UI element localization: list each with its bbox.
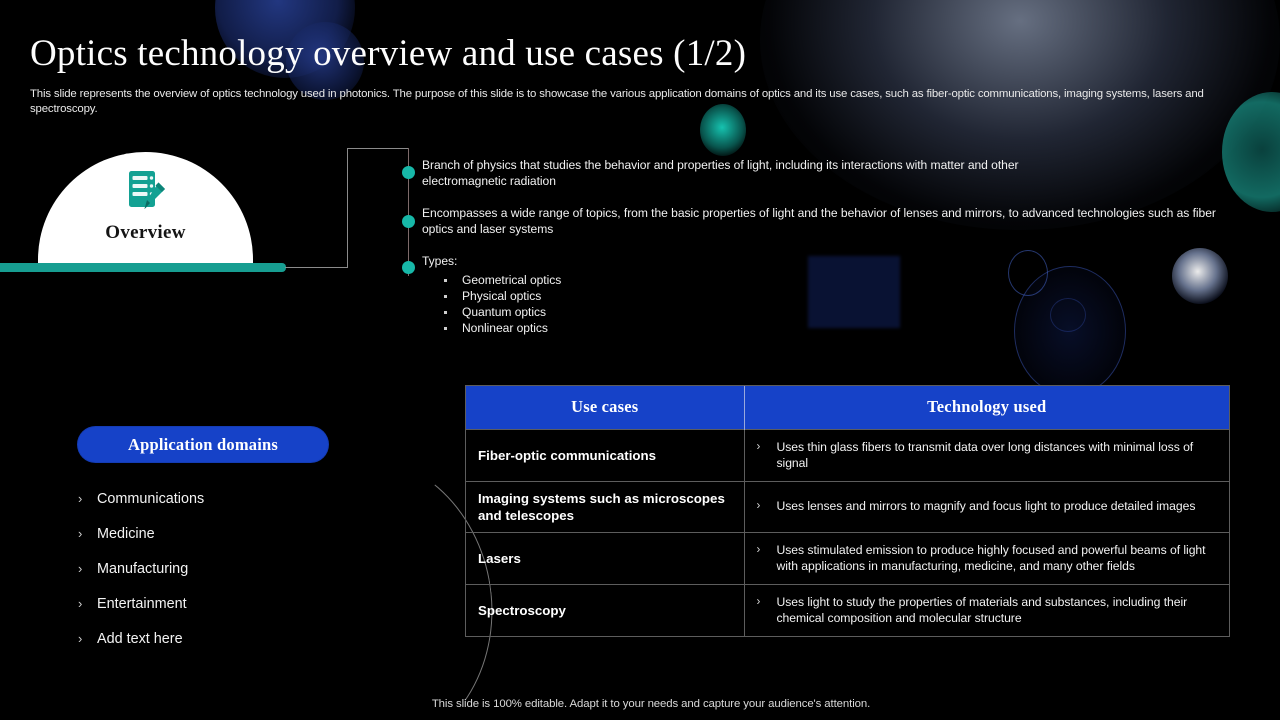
sidebar-item-communications[interactable]: › Communications (78, 488, 388, 523)
square-bullet-icon (444, 279, 447, 282)
chevron-right-icon: › (757, 498, 777, 514)
sidebar-item-label: Medicine (97, 523, 155, 545)
bullet-dot-2 (402, 215, 415, 228)
overview-bullet-1: Branch of physics that studies the behav… (422, 157, 1102, 189)
square-bullet-icon (444, 311, 447, 314)
cell-technology: › Uses lenses and mirrors to magnify and… (744, 481, 1229, 532)
column-header-technology-used: Technology used (744, 386, 1229, 429)
application-domains-heading: Application domains (78, 427, 328, 462)
application-domains-list: › Communications › Medicine › Manufactur… (78, 488, 388, 663)
square-bullet-icon (444, 327, 447, 330)
sidebar-item-label: Manufacturing (97, 558, 188, 580)
square-bullet-icon (444, 295, 447, 298)
cell-technology: › Uses thin glass fibers to transmit dat… (744, 429, 1229, 481)
chevron-right-icon: › (757, 439, 777, 455)
chevron-right-icon: › (78, 593, 97, 615)
chevron-right-icon: › (78, 558, 97, 580)
cell-technology-text: Uses light to study the properties of ma… (777, 594, 1216, 627)
cell-use-case: Lasers (466, 532, 744, 584)
table-row: Spectroscopy › Uses light to study the p… (466, 584, 1229, 636)
sidebar-item-label: Communications (97, 488, 204, 510)
list-item: Nonlinear optics (422, 320, 842, 336)
sidebar-item-manufacturing[interactable]: › Manufacturing (78, 558, 388, 593)
sidebar-item-add-text-here[interactable]: › Add text here (78, 628, 388, 663)
chevron-right-icon: › (757, 594, 777, 610)
bullet-dot-3 (402, 261, 415, 274)
cell-technology-text: Uses stimulated emission to produce high… (777, 542, 1216, 575)
page-title: Optics technology overview and use cases… (30, 32, 746, 75)
overview-types-block: Types: Geometrical optics Physical optic… (422, 253, 842, 336)
slide-footer-note: This slide is 100% editable. Adapt it to… (0, 698, 1280, 710)
connector-line-upper (347, 148, 409, 149)
cell-technology-text: Uses thin glass fibers to transmit data … (777, 439, 1216, 472)
overview-types-list: Geometrical optics Physical optics Quant… (422, 272, 842, 336)
sidebar-item-medicine[interactable]: › Medicine (78, 523, 388, 558)
cell-use-case: Fiber-optic communications (466, 429, 744, 481)
chevron-right-icon: › (78, 488, 97, 510)
overview-teal-bar (0, 263, 286, 272)
column-header-use-cases: Use cases (466, 386, 744, 429)
list-item: Geometrical optics (422, 272, 842, 288)
checklist-pencil-icon (117, 167, 175, 215)
table-header-row: Use cases Technology used (466, 386, 1229, 429)
page-subtitle: This slide represents the overview of op… (30, 87, 1250, 116)
table-row: Imaging systems such as microscopes and … (466, 481, 1229, 532)
bullet-dot-1 (402, 166, 415, 179)
use-cases-table: Use cases Technology used Fiber-optic co… (465, 385, 1230, 637)
connector-line-vertical (347, 148, 348, 268)
connector-line-lower (285, 267, 348, 268)
overview-label: Overview (38, 222, 253, 244)
list-item: Quantum optics (422, 304, 842, 320)
cell-use-case: Imaging systems such as microscopes and … (466, 481, 744, 532)
chevron-right-icon: › (78, 628, 97, 650)
table-row: Lasers › Uses stimulated emission to pro… (466, 532, 1229, 584)
table-row: Fiber-optic communications › Uses thin g… (466, 429, 1229, 481)
cell-technology-text: Uses lenses and mirrors to magnify and f… (777, 498, 1196, 515)
cell-technology: › Uses light to study the properties of … (744, 584, 1229, 636)
cell-use-case: Spectroscopy (466, 584, 744, 636)
overview-bullet-2: Encompasses a wide range of topics, from… (422, 205, 1232, 237)
sidebar-item-label: Entertainment (97, 593, 187, 615)
list-item: Physical optics (422, 288, 842, 304)
chevron-right-icon: › (757, 542, 777, 558)
overview-types-label: Types: (422, 253, 842, 269)
chevron-right-icon: › (78, 523, 97, 545)
sidebar-item-label: Add text here (97, 628, 183, 650)
cell-technology: › Uses stimulated emission to produce hi… (744, 532, 1229, 584)
sidebar-item-entertainment[interactable]: › Entertainment (78, 593, 388, 628)
slide-canvas: Optics technology overview and use cases… (0, 0, 1280, 720)
